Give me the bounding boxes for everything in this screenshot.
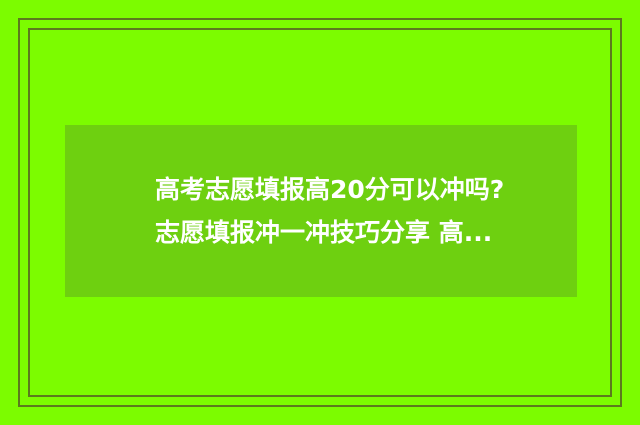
headline-panel: 高考志愿填报高20分可以冲吗? 志愿填报冲一冲技巧分享 高... [65, 125, 577, 297]
poster-canvas: 高考志愿填报高20分可以冲吗? 志愿填报冲一冲技巧分享 高... [0, 0, 640, 425]
headline-text-block: 高考志愿填报高20分可以冲吗? 志愿填报冲一冲技巧分享 高... [65, 168, 504, 254]
headline-line-1: 高考志愿填报高20分可以冲吗? [155, 168, 504, 211]
headline-line-2: 志愿填报冲一冲技巧分享 高... [155, 211, 504, 254]
